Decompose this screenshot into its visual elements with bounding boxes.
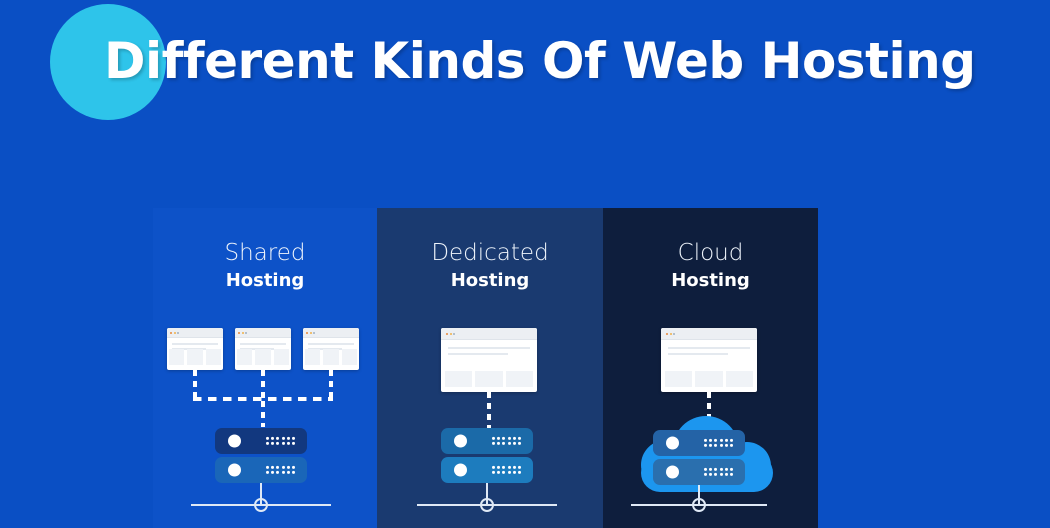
browser-content-line [448,347,530,349]
browser-content-line [240,343,286,345]
server-vent-grid-icon [266,466,295,474]
network-node-icon [254,498,268,512]
browser-traffic-dots-icon [306,332,315,334]
browser-titlebar [235,328,291,338]
browser-tiles [305,349,357,365]
server-rack-icon [215,428,307,454]
server-vent-grid-icon [266,437,295,445]
dashed-connector [487,392,491,428]
server-rack-icon [441,457,533,483]
browser-window-icon [235,328,291,370]
server-rack-icon [441,428,533,454]
browser-titlebar [167,328,223,338]
server-rack-icon [215,457,307,483]
dedicated-hosting-diagram [377,208,603,528]
dashed-connector [261,370,265,399]
browser-tiles [665,371,753,387]
network-node-icon [692,498,706,512]
browser-traffic-dots-icon [170,332,179,334]
browser-content-line [668,347,750,349]
server-led-icon [666,437,679,450]
browser-tiles [169,349,221,365]
browser-titlebar [303,328,359,338]
browser-window-icon [167,328,223,370]
server-led-icon [454,435,467,448]
browser-window-icon [441,328,537,392]
dashed-connector [193,370,197,399]
browser-content-line [448,353,508,355]
page-title: Different Kinds Of Web Hosting [104,32,976,90]
server-vent-grid-icon [704,439,733,447]
browser-tiles [237,349,289,365]
shared-hosting-diagram [153,208,377,528]
browser-content-line [668,353,728,355]
server-vent-grid-icon [704,468,733,476]
browser-traffic-dots-icon [446,333,455,335]
panel-dedicated-hosting[interactable]: Dedicated Hosting [377,208,603,528]
server-rack-icon [653,459,745,485]
server-rack-icon [653,430,745,456]
server-led-icon [228,464,241,477]
browser-traffic-dots-icon [666,333,675,335]
hosting-types-row: Shared Hosting [153,208,818,528]
browser-content-line [172,343,218,345]
panel-cloud-hosting[interactable]: Cloud Hosting [603,208,818,528]
server-led-icon [666,466,679,479]
panel-shared-hosting[interactable]: Shared Hosting [153,208,377,528]
browser-tiles [445,371,533,387]
browser-content-line [308,343,354,345]
network-node-icon [480,498,494,512]
browser-traffic-dots-icon [238,332,247,334]
server-led-icon [228,435,241,448]
dashed-connector [261,401,265,427]
browser-titlebar [661,328,757,340]
server-vent-grid-icon [492,437,521,445]
server-led-icon [454,464,467,477]
browser-titlebar [441,328,537,340]
server-vent-grid-icon [492,466,521,474]
browser-window-icon [661,328,757,392]
cloud-hosting-diagram [603,208,818,528]
header-banner: Different Kinds Of Web Hosting [0,0,1050,140]
dashed-connector [329,370,333,399]
browser-window-icon [303,328,359,370]
